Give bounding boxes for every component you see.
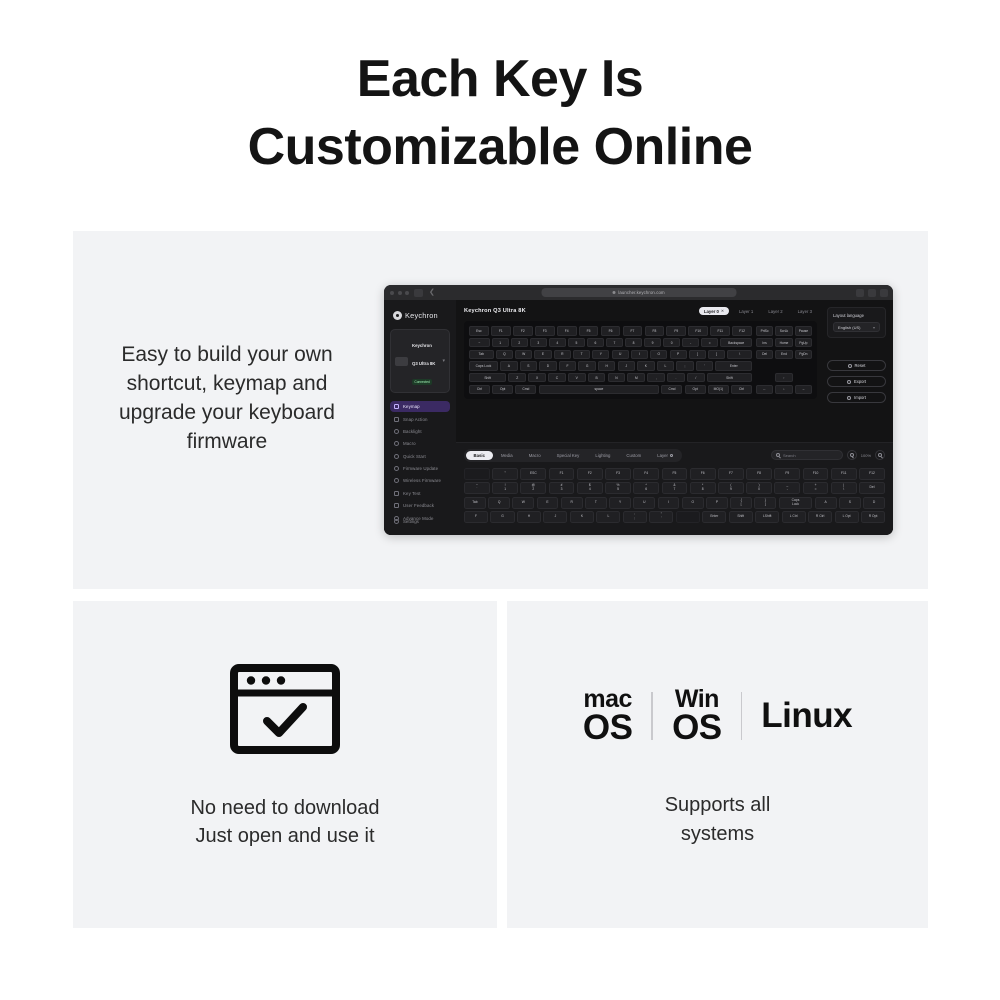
feature-copy-text: Easy to build your own shortcut, keymap … — [96, 341, 358, 457]
tab-label: Basic — [474, 453, 485, 458]
key-picker-row: °ESCF1F2F3F4F5F6F7F8F9F10F11F12 — [464, 468, 885, 480]
device-selector[interactable]: Keychron Q3 Ultra 8K Connected ▾ — [390, 329, 450, 393]
os-logo-linux: Linux — [761, 699, 852, 733]
keyboard-key[interactable]: [ — [689, 350, 706, 360]
keyboard-key[interactable]: 6 — [587, 338, 604, 348]
key-picker-key[interactable]: I — [658, 497, 680, 509]
keyboard-key[interactable]: F3 — [535, 326, 555, 336]
keyboard-row — [756, 361, 812, 371]
lock-icon — [612, 291, 615, 294]
key-picker-key[interactable]: L Ctrl — [782, 511, 806, 523]
tab-basic[interactable]: Basic — [466, 451, 493, 461]
keyboard-key-spacer — [795, 373, 812, 383]
browser-toolbar-right[interactable] — [856, 289, 888, 297]
keyboard-title: Keychron Q3 Ultra 8K — [464, 308, 526, 314]
key-picker-key[interactable]: F5 — [662, 468, 688, 480]
keyboard-row: ~1234567890-=Backspace — [469, 338, 752, 348]
chevron-down-icon[interactable]: ▾ — [442, 358, 445, 364]
layout-language-card: Layout language English (US) ▾ — [827, 307, 886, 338]
key-picker-row: TabQWERTYUIOP{ [} ]Caps LockASD — [464, 497, 885, 509]
sidebar-item-label: Backlight — [403, 429, 422, 434]
sidebar-item-key-test[interactable]: Key Test — [390, 488, 450, 499]
key-picker-key[interactable]: Q — [488, 497, 510, 509]
keyboard-key[interactable]: F4 — [557, 326, 577, 336]
keyboard-key[interactable]: 1 — [492, 338, 509, 348]
key-picker-key[interactable]: D — [863, 497, 885, 509]
divider — [651, 692, 653, 740]
share-icon[interactable] — [856, 289, 864, 297]
divider — [741, 692, 743, 740]
keyboard-key-spacer — [756, 373, 773, 383]
keyboard-key[interactable]: 5 — [568, 338, 585, 348]
keyboard-key[interactable]: F — [559, 361, 576, 371]
keyboard-key[interactable]: Pause — [795, 326, 812, 336]
sidebar-item-label: Firmware Update — [403, 466, 438, 471]
browser-check-icon — [229, 663, 341, 760]
keyboard-key-spacer — [775, 361, 792, 371]
key-picker-key[interactable]: $ 4 — [577, 482, 603, 494]
key-picker-key[interactable]: F11 — [831, 468, 857, 480]
keyboard-key[interactable]: V — [568, 373, 586, 383]
key-picker-key[interactable]: & 7 — [662, 482, 688, 494]
key-picker-key[interactable]: U — [633, 497, 655, 509]
sidebar-item-wireless-firmware[interactable]: Wireless Firmware — [390, 475, 450, 486]
sidebar-item-snap-action[interactable]: Snap Action — [390, 413, 450, 424]
key-picker-key[interactable]: R Ctrl — [808, 511, 832, 523]
tab-label: Media — [501, 453, 513, 458]
keyboard-row: EscF1F2F3F4F5F6F7F8F9F10F11F12 — [469, 326, 752, 336]
key-picker-key[interactable]: ! 1 — [492, 482, 518, 494]
key-picker-key[interactable]: Del — [859, 482, 885, 494]
device-status-badge: Connected — [412, 379, 432, 385]
keyboard-key[interactable]: Q — [496, 350, 513, 360]
keyboard-key[interactable]: F5 — [579, 326, 599, 336]
keyboard-key[interactable]: D — [539, 361, 556, 371]
tab-label: Special Key — [557, 453, 580, 458]
keyboard-key[interactable]: / — [687, 373, 705, 383]
sidebar-item-label: Keymap — [403, 404, 420, 409]
search-input[interactable]: Search — [771, 450, 843, 460]
export-button[interactable]: Export — [827, 376, 886, 387]
keyboard-row: TabQWERTYUIOP[]\ — [469, 350, 752, 360]
key-picker-key[interactable]: R — [561, 497, 583, 509]
key-picker-key[interactable]: W — [512, 497, 534, 509]
sidebar-item-label: Macro — [403, 441, 416, 446]
key-picker-key[interactable]: F2 — [577, 468, 603, 480]
keyboard-key[interactable]: PgDn — [795, 350, 812, 360]
tab-label: Lighting — [595, 453, 610, 458]
browser-toolbar: ❮ launcher.keychron.com — [384, 285, 893, 300]
key-picker-key[interactable]: Enter — [702, 511, 726, 523]
keyboard-key[interactable]: Ctrl — [731, 385, 752, 395]
import-label: Import — [854, 395, 866, 400]
keyboard-key[interactable]: F8 — [645, 326, 665, 336]
key-picker-key[interactable]: F10 — [803, 468, 829, 480]
tab-media[interactable]: Media — [493, 451, 521, 461]
keyboard-key[interactable]: 9 — [644, 338, 661, 348]
sidebar-item-user-feedback[interactable]: User Feedback — [390, 500, 450, 511]
tab-special-key[interactable]: Special Key — [549, 451, 588, 461]
key-picker-key[interactable]: Shift — [729, 511, 753, 523]
key-picker-row: ~ `! 1@ 2# 3$ 4% 5^ 6& 7* 8( 9) 0_ -+ =|… — [464, 482, 885, 494]
keyboard-key[interactable]: I — [631, 350, 648, 360]
firmware-update-icon — [394, 466, 399, 471]
keyboard-key[interactable]: Opt — [685, 385, 706, 395]
sidebar-nav: Keymap Snap Action Backlight Macro Quick… — [390, 401, 450, 524]
key-picker-tabbar: BasicMediaMacroSpecial KeyLightingCustom… — [464, 449, 885, 462]
key-picker-key[interactable]: F9 — [774, 468, 800, 480]
keyboard-key[interactable]: H — [598, 361, 615, 371]
key-picker-spacer — [676, 511, 700, 523]
feature-panel-no-download: No need to downloadJust open and use it — [73, 601, 497, 928]
keyboard-key[interactable]: 7 — [606, 338, 623, 348]
keyboard-key[interactable]: 8 — [625, 338, 642, 348]
keyboard-key[interactable]: . — [667, 373, 685, 383]
keyboard-key[interactable]: N — [608, 373, 626, 383]
keyboard-key[interactable]: F6 — [601, 326, 621, 336]
picker-tools: Search 100% — [771, 450, 885, 460]
key-picker-key[interactable]: ) 0 — [746, 482, 772, 494]
keyboard-key[interactable]: 2 — [511, 338, 528, 348]
new-tab-icon[interactable] — [868, 289, 876, 297]
layer-tabs: Layer 0✕ Layer 1 Layer 2 Layer 3 — [699, 307, 817, 315]
os-logo-bottom: Linux — [761, 699, 852, 733]
key-picker-key[interactable]: F1 — [549, 468, 575, 480]
layout-language-select[interactable]: English (US) ▾ — [833, 322, 880, 332]
key-picker-key[interactable]: : ; — [623, 511, 647, 523]
layer-tab-2[interactable]: Layer 2 — [763, 307, 787, 315]
layer-label: Layer 0 — [704, 309, 719, 314]
keyboard-visual: EscF1F2F3F4F5F6F7F8F9F10F11F12~123456789… — [464, 321, 817, 399]
url-bar[interactable]: launcher.keychron.com — [541, 288, 736, 297]
wireless-firmware-icon — [394, 478, 399, 483]
keyboard-key[interactable]: Caps Lock — [469, 361, 498, 371]
reset-icon — [848, 364, 852, 368]
keyboard-key[interactable]: Enter — [715, 361, 752, 371]
keyboard-key[interactable]: PgUp — [795, 338, 812, 348]
keyboard-key[interactable]: 4 — [549, 338, 566, 348]
brand-name: Keychron — [405, 311, 438, 320]
key-picker-spacer — [464, 468, 490, 480]
key-picker-key[interactable]: ^ 6 — [633, 482, 659, 494]
layout-language-value: English (US) — [838, 325, 860, 330]
keyboard-key[interactable]: \ — [727, 350, 752, 360]
keyboard-key[interactable]: L — [657, 361, 674, 371]
keyboard-key[interactable]: MO(1) — [708, 385, 729, 395]
import-button[interactable]: Import — [827, 392, 886, 403]
url-text: launcher.keychron.com — [618, 290, 664, 295]
key-picker-key[interactable]: L — [596, 511, 620, 523]
key-picker-key[interactable]: S — [839, 497, 861, 509]
sidebar-toggle-icon[interactable] — [414, 289, 423, 297]
app-sidebar: Keychron Keychron Q3 Ultra 8K Connected … — [384, 300, 456, 535]
key-picker-key[interactable]: G — [490, 511, 514, 523]
device-thumbnail-icon — [395, 357, 408, 366]
zoom-out-button[interactable] — [847, 450, 857, 460]
tab-label: Custom — [626, 453, 641, 458]
sidebar-item-keymap[interactable]: Keymap — [390, 401, 450, 412]
key-picker-row: FGHJKL: ;" 'EnterShiftLShiftL CtrlR Ctrl… — [464, 511, 885, 523]
key-picker-key[interactable]: O — [682, 497, 704, 509]
keyboard-key[interactable]: M — [627, 373, 645, 383]
keyboard-row: PrtScScrLkPause — [756, 326, 812, 336]
backlight-icon — [394, 429, 399, 434]
keyboard-key[interactable]: ~ — [469, 338, 490, 348]
keyboard-key[interactable]: F9 — [666, 326, 686, 336]
key-picker-key[interactable]: Y — [609, 497, 631, 509]
tab-label: Macro — [529, 453, 541, 458]
keyboard-row: ←↓→ — [756, 385, 812, 395]
key-picker-key[interactable]: H — [517, 511, 541, 523]
browser-window-mock: ❮ launcher.keychron.com Keychron — [384, 285, 893, 535]
key-picker-key[interactable]: ° — [492, 468, 518, 480]
keyboard-key[interactable]: Cmd — [661, 385, 682, 395]
sidebar-item-label: Snap Action — [403, 417, 428, 422]
key-picker-key[interactable]: Caps Lock — [779, 497, 813, 509]
keyboard-key-spacer — [795, 361, 812, 371]
sidebar-item-firmware-update[interactable]: Firmware Update — [390, 463, 450, 474]
key-picker-key[interactable]: A — [815, 497, 837, 509]
keyboard-key[interactable]: Ctrl — [469, 385, 490, 395]
keyboard-key[interactable]: space — [539, 385, 660, 395]
key-picker-key[interactable]: Tab — [464, 497, 486, 509]
keyboard-key[interactable]: O — [650, 350, 667, 360]
sidebar-item-label: Wireless Firmware — [403, 478, 441, 483]
sidebar-item-settings[interactable]: Settings — [390, 516, 450, 527]
keyboard-key[interactable]: Opt — [492, 385, 513, 395]
os-logo-bottom: OS — [583, 711, 633, 745]
keyboard-key[interactable]: = — [701, 338, 718, 348]
os-logo-winos: Win OS — [672, 687, 722, 745]
key-picker-key[interactable]: _ - — [774, 482, 800, 494]
os-logo-bottom: OS — [672, 711, 722, 745]
keyboard-key-spacer — [756, 361, 773, 371]
keyboard-key[interactable]: - — [682, 338, 699, 348]
keyboard-key[interactable]: Home — [775, 338, 792, 348]
sidebar-item-quick-start[interactable]: Quick Start — [390, 451, 450, 462]
key-picker-key[interactable]: ESC — [520, 468, 546, 480]
keyboard-key[interactable]: ScrLk — [775, 326, 792, 336]
keyboard-key[interactable]: Tab — [469, 350, 494, 360]
keyboard-key[interactable]: PrtSc — [756, 326, 773, 336]
layout-language-label: Layout language — [833, 313, 880, 318]
export-icon — [847, 380, 851, 384]
key-picker-key[interactable]: K — [570, 511, 594, 523]
key-picker-key[interactable]: % 5 — [605, 482, 631, 494]
keyboard-row: InsHomePgUp — [756, 338, 812, 348]
brand: Keychron — [393, 311, 450, 320]
keyboard-key[interactable]: → — [795, 385, 812, 395]
key-picker-key[interactable]: + = — [803, 482, 829, 494]
key-picker-key[interactable]: @ 2 — [520, 482, 546, 494]
keyboard-key[interactable]: Z — [508, 373, 526, 383]
snap-action-icon — [394, 417, 399, 422]
key-picker-panel: BasicMediaMacroSpecial KeyLightingCustom… — [456, 442, 893, 535]
keyboard-key[interactable]: 0 — [663, 338, 680, 348]
keyboard-key[interactable]: Del — [756, 350, 773, 360]
back-chevron-icon[interactable]: ❮ — [429, 289, 435, 296]
key-picker-key[interactable]: F3 — [605, 468, 631, 480]
keyboard-key[interactable]: F11 — [710, 326, 730, 336]
keyboard-key[interactable]: Cmd — [515, 385, 536, 395]
device-meta: Keychron Q3 Ultra 8K Connected — [412, 334, 438, 388]
keychron-logo-icon — [393, 311, 402, 320]
key-picker-key[interactable]: F4 — [633, 468, 659, 480]
keyboard-key[interactable]: F7 — [623, 326, 643, 336]
keyboard-key[interactable]: Y — [592, 350, 609, 360]
chevron-down-icon: ▾ — [873, 325, 875, 330]
traffic-lights-icon[interactable] — [390, 291, 409, 295]
sidebar-item-label: Key Test — [403, 491, 421, 496]
gear-icon — [394, 519, 399, 524]
tab-macro[interactable]: Macro — [521, 451, 549, 461]
key-category-tabs: BasicMediaMacroSpecial KeyLightingCustom… — [464, 449, 682, 462]
macro-icon — [394, 441, 399, 446]
no-download-caption: No need to downloadJust open and use it — [190, 794, 379, 851]
layer-tab-1[interactable]: Layer 1 — [734, 307, 758, 315]
sidebar-item-label: Quick Start — [403, 454, 426, 459]
zoom-out-icon — [850, 453, 854, 457]
tabs-icon[interactable] — [880, 289, 888, 297]
keyboard-key[interactable]: ; — [676, 361, 693, 371]
sidebar-item-backlight[interactable]: Backlight — [390, 426, 450, 437]
tab-label: Layer — [657, 453, 668, 458]
keyboard-key[interactable]: P — [670, 350, 687, 360]
key-picker-key[interactable]: T — [585, 497, 607, 509]
keyboard-key[interactable]: B — [588, 373, 606, 383]
zoom-level: 100% — [861, 453, 871, 458]
keyboard-key[interactable]: X — [528, 373, 546, 383]
feature-panel-systems: mac OS Win OS Linux Supports allsystems — [507, 601, 928, 928]
key-picker-key[interactable]: { [ — [730, 497, 752, 509]
keyboard-key[interactable]: F10 — [688, 326, 708, 336]
key-picker-key[interactable]: F8 — [746, 468, 772, 480]
key-picker-key[interactable]: P — [706, 497, 728, 509]
key-picker-grid: °ESCF1F2F3F4F5F6F7F8F9F10F11F12~ `! 1@ 2… — [464, 468, 885, 523]
tab-layer[interactable]: Layer — [649, 451, 681, 461]
key-picker-key[interactable]: | \ — [831, 482, 857, 494]
keyboard-key[interactable]: Ins — [756, 338, 773, 348]
keyboard-key[interactable]: ↑ — [775, 373, 792, 383]
key-test-icon — [394, 491, 399, 496]
key-picker-key[interactable]: ( 9 — [718, 482, 744, 494]
keyboard-key[interactable]: ↓ — [775, 385, 792, 395]
search-placeholder: Search — [783, 453, 796, 458]
keyboard-key[interactable]: End — [775, 350, 792, 360]
keyboard-key[interactable]: E — [534, 350, 551, 360]
keyboard-key[interactable]: A — [500, 361, 517, 371]
keyboard-key[interactable]: J — [618, 361, 635, 371]
key-picker-key[interactable]: E — [537, 497, 559, 509]
keyboard-key[interactable]: , — [647, 373, 665, 383]
reset-label: Reset — [855, 363, 866, 368]
keyboard-key[interactable]: Backspace — [720, 338, 752, 348]
keyboard-row: Caps LockASDFGHJKL;'Enter — [469, 361, 752, 371]
key-picker-key[interactable]: F7 — [718, 468, 744, 480]
sidebar-item-label: Settings — [403, 519, 419, 524]
os-logo-macos: mac OS — [583, 687, 633, 745]
tab-custom[interactable]: Custom — [618, 451, 649, 461]
search-icon — [776, 453, 780, 457]
key-picker-key[interactable]: " ' — [649, 511, 673, 523]
key-picker-key[interactable]: * 8 — [690, 482, 716, 494]
zoom-in-icon — [878, 453, 882, 457]
close-icon[interactable]: ✕ — [721, 309, 724, 313]
tab-lighting[interactable]: Lighting — [587, 451, 618, 461]
key-picker-key[interactable]: F — [464, 511, 488, 523]
layer-tab-0[interactable]: Layer 0✕ — [699, 307, 729, 315]
reset-button[interactable]: Reset — [827, 360, 886, 371]
export-label: Export — [854, 379, 866, 384]
device-name: Keychron Q3 Ultra 8K — [412, 343, 435, 366]
key-picker-key[interactable]: F12 — [859, 468, 885, 480]
keyboard-row: ↑ — [756, 373, 812, 383]
page-root: Each Key IsCustomizable Online Easy to b… — [0, 0, 1000, 1000]
key-picker-key[interactable]: # 3 — [549, 482, 575, 494]
keyboard-key[interactable]: ← — [756, 385, 773, 395]
key-picker-key[interactable]: R Opt — [861, 511, 885, 523]
keyboard-key[interactable]: R — [554, 350, 571, 360]
import-icon — [847, 396, 851, 400]
layer-tab-3[interactable]: Layer 3 — [793, 307, 817, 315]
keyboard-key[interactable]: F12 — [732, 326, 752, 336]
app-body: Keychron Keychron Q3 Ultra 8K Connected … — [384, 300, 893, 535]
zoom-in-button[interactable] — [875, 450, 885, 460]
keyboard-key[interactable]: K — [637, 361, 654, 371]
keyboard-header: Keychron Q3 Ultra 8K Layer 0✕ Layer 1 La… — [464, 307, 817, 315]
keyboard-row: CtrlOptCmdspaceCmdOptMO(1)Ctrl — [469, 385, 752, 395]
keyboard-key[interactable]: T — [573, 350, 590, 360]
keyboard-key[interactable]: U — [612, 350, 629, 360]
sidebar-item-label: User Feedback — [403, 503, 434, 508]
keyboard-key[interactable]: G — [578, 361, 595, 371]
key-picker-key[interactable]: L Opt — [835, 511, 859, 523]
keyboard-row: ShiftZXCVBNM,./Shift — [469, 373, 752, 383]
keyboard-row: DelEndPgDn — [756, 350, 812, 360]
info-icon — [670, 454, 673, 457]
key-picker-key[interactable]: ~ ` — [464, 482, 490, 494]
keyboard-nav-cluster: PrtScScrLkPauseInsHomePgUpDelEndPgDn↑←↓→ — [756, 326, 812, 394]
quick-start-icon — [394, 454, 399, 459]
key-picker-key[interactable]: F6 — [690, 468, 716, 480]
keyboard-key[interactable]: Shift — [707, 373, 752, 383]
keymap-icon — [394, 404, 399, 409]
sidebar-item-macro[interactable]: Macro — [390, 438, 450, 449]
keyboard-key[interactable]: C — [548, 373, 566, 383]
key-picker-key[interactable]: LShift — [755, 511, 779, 523]
user-feedback-icon — [394, 503, 399, 508]
keyboard-key[interactable]: Esc — [469, 326, 489, 336]
key-picker-key[interactable]: J — [543, 511, 567, 523]
key-picker-key[interactable]: } ] — [754, 497, 776, 509]
os-logos: mac OS Win OS Linux — [583, 687, 852, 745]
keyboard-key[interactable]: S — [520, 361, 537, 371]
systems-caption: Supports allsystems — [665, 791, 771, 848]
keyboard-key[interactable]: W — [515, 350, 532, 360]
keyboard-key[interactable]: ] — [708, 350, 725, 360]
keyboard-key[interactable]: 3 — [530, 338, 547, 348]
page-title: Each Key IsCustomizable Online — [0, 46, 1000, 181]
keyboard-main-block: EscF1F2F3F4F5F6F7F8F9F10F11F12~123456789… — [469, 326, 752, 394]
keyboard-key[interactable]: F2 — [513, 326, 533, 336]
keyboard-key[interactable]: Shift — [469, 373, 506, 383]
keyboard-key[interactable]: ' — [696, 361, 713, 371]
keyboard-key[interactable]: F1 — [491, 326, 511, 336]
